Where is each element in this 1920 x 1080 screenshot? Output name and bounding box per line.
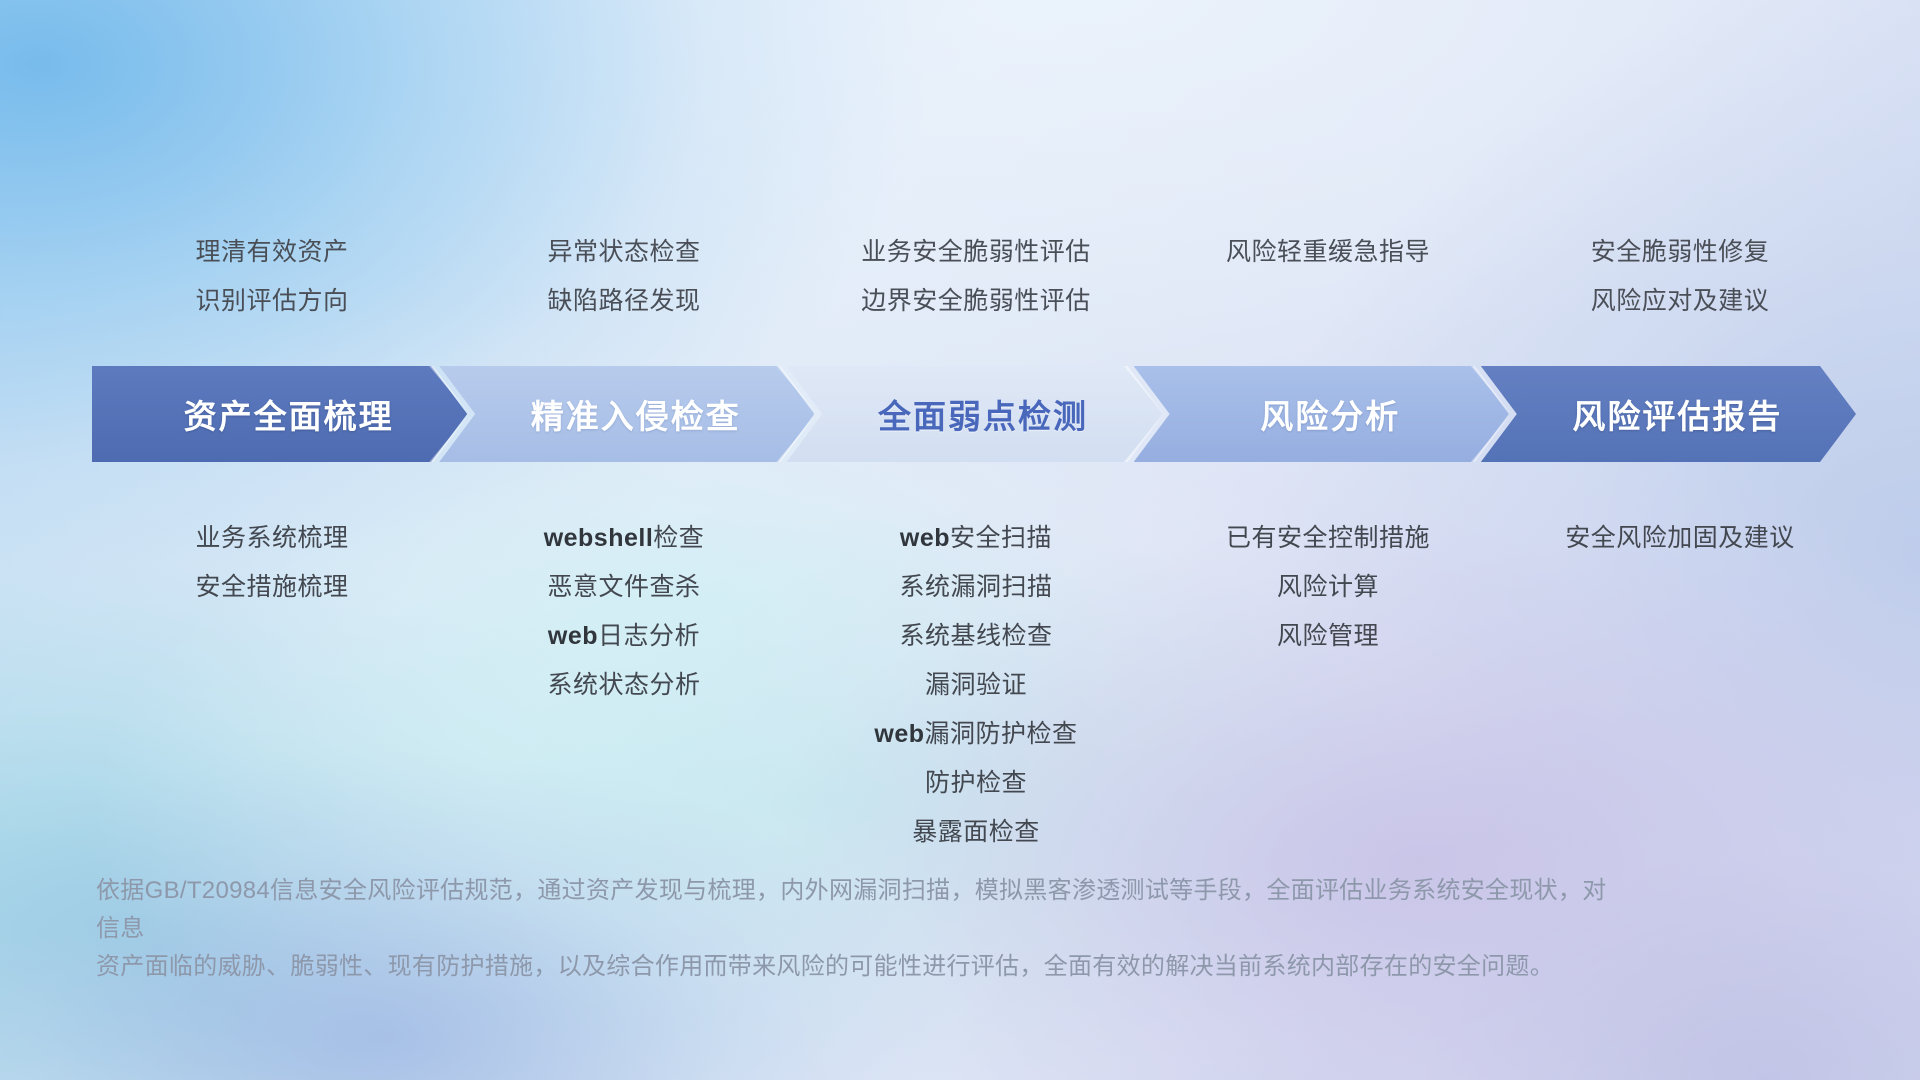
output-item: 安全措施梳理	[96, 563, 448, 612]
input-item: 风险应对及建议	[1504, 277, 1856, 326]
output-item: 风险管理	[1152, 612, 1504, 661]
output-item: web漏洞防护检查	[800, 710, 1152, 759]
input-item: 异常状态检查	[448, 228, 800, 277]
footer-line: 资产面临的威胁、脆弱性、现有防护措施，以及综合作用而带来风险的可能性进行评估，全…	[96, 948, 1616, 986]
input-item: 缺陷路径发现	[448, 277, 800, 326]
input-column-step-1: 理清有效资产 识别评估方向	[96, 228, 448, 326]
output-columns: 业务系统梳理安全措施梳理 webshell检查恶意文件查杀web日志分析系统状态…	[96, 514, 1856, 857]
footer-description: 依据GB/T20984信息安全风险评估规范，通过资产发现与梳理，内外网漏洞扫描，…	[96, 872, 1616, 986]
output-item: 安全风险加固及建议	[1504, 514, 1856, 563]
process-step-label: 风险分析	[1260, 390, 1400, 438]
output-item-keyword: web	[874, 720, 924, 748]
diagram-content: 理清有效资产 识别评估方向 异常状态检查 缺陷路径发现 业务安全脆弱性评估 边界…	[0, 0, 1920, 1080]
input-item: 边界安全脆弱性评估	[800, 277, 1152, 326]
input-item: 识别评估方向	[96, 277, 448, 326]
output-item: 漏洞验证	[800, 661, 1152, 710]
output-item-keyword: web	[900, 524, 950, 552]
process-step-4[interactable]: 风险分析	[1134, 366, 1509, 462]
process-step-label: 风险评估报告	[1572, 390, 1782, 438]
process-step-1[interactable]: 资产全面梳理	[92, 366, 467, 462]
process-chevron-banner: 资产全面梳理 精准入侵检查 全面弱点检测 风险分析 风险评估报告	[92, 366, 1856, 462]
output-column-step-2: webshell检查恶意文件查杀web日志分析系统状态分析	[448, 514, 800, 857]
output-item: 已有安全控制措施	[1152, 514, 1504, 563]
footer-line: 依据GB/T20984信息安全风险评估规范，通过资产发现与梳理，内外网漏洞扫描，…	[96, 872, 1616, 948]
input-item: 安全脆弱性修复	[1504, 228, 1856, 277]
output-item: web日志分析	[448, 612, 800, 661]
input-column-step-3: 业务安全脆弱性评估 边界安全脆弱性评估	[800, 228, 1152, 326]
output-item: 业务系统梳理	[96, 514, 448, 563]
output-column-step-5: 安全风险加固及建议	[1504, 514, 1856, 857]
input-column-step-4: 风险轻重缓急指导	[1152, 228, 1504, 326]
output-column-step-1: 业务系统梳理安全措施梳理	[96, 514, 448, 857]
output-item: web安全扫描	[800, 514, 1152, 563]
input-column-step-5: 安全脆弱性修复 风险应对及建议	[1504, 228, 1856, 326]
input-columns: 理清有效资产 识别评估方向 异常状态检查 缺陷路径发现 业务安全脆弱性评估 边界…	[96, 228, 1856, 326]
output-item-keyword: webshell	[544, 524, 654, 552]
process-step-label: 全面弱点检测	[878, 390, 1088, 438]
output-item: 系统漏洞扫描	[800, 563, 1152, 612]
process-step-3[interactable]: 全面弱点检测	[786, 366, 1161, 462]
input-item: 业务安全脆弱性评估	[800, 228, 1152, 277]
process-step-5[interactable]: 风险评估报告	[1481, 366, 1856, 462]
output-item: 防护检查	[800, 759, 1152, 808]
process-step-label: 资产全面梳理	[184, 390, 394, 438]
input-column-step-2: 异常状态检查 缺陷路径发现	[448, 228, 800, 326]
output-item: 恶意文件查杀	[448, 563, 800, 612]
input-item: 风险轻重缓急指导	[1152, 228, 1504, 277]
output-item: 系统基线检查	[800, 612, 1152, 661]
output-item: 系统状态分析	[448, 661, 800, 710]
output-column-step-4: 已有安全控制措施风险计算风险管理	[1152, 514, 1504, 857]
process-step-label: 精准入侵检查	[531, 390, 741, 438]
output-column-step-3: web安全扫描系统漏洞扫描系统基线检查漏洞验证web漏洞防护检查防护检查暴露面检…	[800, 514, 1152, 857]
output-item: 风险计算	[1152, 563, 1504, 612]
slide-canvas: 理清有效资产 识别评估方向 异常状态检查 缺陷路径发现 业务安全脆弱性评估 边界…	[0, 0, 1920, 1080]
process-step-2[interactable]: 精准入侵检查	[439, 366, 814, 462]
output-item: webshell检查	[448, 514, 800, 563]
output-item: 暴露面检查	[800, 808, 1152, 857]
output-item-keyword: web	[548, 622, 598, 650]
input-item: 理清有效资产	[96, 228, 448, 277]
